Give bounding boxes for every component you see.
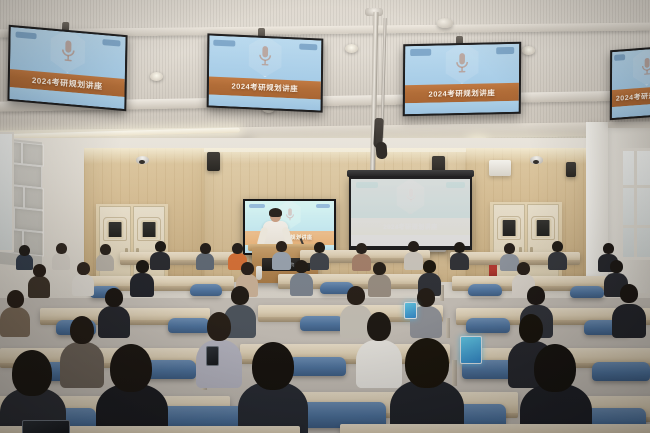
phone-device[interactable] — [22, 420, 70, 433]
ceiling-spotlight — [150, 72, 163, 81]
hanging-cable — [375, 142, 387, 160]
wall-speaker-icon — [566, 162, 576, 177]
microphone-in-hexagon-icon — [246, 35, 284, 78]
slide-content: 2024考研规划讲座 — [209, 35, 322, 110]
microphone-in-hexagon-icon — [443, 44, 481, 84]
slide-logo-right — [299, 43, 317, 50]
audience-member — [52, 244, 70, 268]
audience-member — [390, 338, 464, 433]
audience-member — [0, 290, 30, 332]
chair — [466, 318, 510, 333]
wall-speaker-icon — [207, 152, 220, 171]
slide-logo-right — [316, 204, 330, 209]
audience-member — [196, 244, 214, 268]
audience-member — [612, 284, 646, 334]
audience-member — [450, 243, 469, 268]
microphone-in-hexagon-icon — [631, 48, 650, 87]
audience-member — [96, 344, 168, 433]
audience-member — [238, 342, 308, 433]
projection-screen: 2024考研规划讲座 — [349, 176, 472, 250]
slide-content: 2024考研规划讲座 — [612, 48, 650, 118]
ceiling-display-4: 2024考研规划讲座 — [610, 46, 650, 121]
audience-member — [272, 242, 291, 268]
slide-logo-right — [446, 182, 465, 188]
slide-logo-left — [614, 54, 625, 61]
audience-member — [548, 242, 567, 268]
ceiling-spotlight — [522, 46, 535, 55]
ceiling-display-2: 2024考研规划讲座 — [207, 33, 324, 112]
slide-content: 2024考研规划讲座 — [405, 44, 519, 114]
slide-title: 2024考研规划讲座 — [231, 81, 298, 95]
slide-logo-right — [496, 47, 514, 53]
slide-logo-left — [356, 182, 379, 188]
chair — [468, 284, 502, 296]
dome-camera-icon — [530, 156, 543, 164]
audience-member — [28, 264, 50, 294]
lecture-hall-photo: 2024考研规划讲座 — [0, 0, 650, 433]
ceiling-display-1: 2024考研规划讲座 — [7, 25, 127, 111]
slide-title: 2024考研规划讲座 — [383, 222, 437, 231]
smoke-detector-icon — [437, 18, 453, 28]
slide-title: 2024考研规划讲座 — [429, 87, 496, 99]
audience-member — [520, 344, 592, 433]
door-window — [501, 218, 518, 238]
ceiling-display-3: 2024考研规划讲座 — [403, 42, 522, 116]
presenter-hair — [269, 208, 282, 217]
door-window — [141, 220, 158, 239]
slide-content: 2024考研规划讲座 — [9, 27, 125, 109]
door-window — [535, 218, 552, 238]
slide-logo-left — [214, 39, 235, 46]
dome-camera-icon — [136, 156, 149, 164]
ceiling-spotlight — [345, 44, 358, 53]
microphone-in-hexagon-icon — [395, 179, 427, 214]
tablet-device[interactable] — [404, 302, 417, 319]
slide-content: 2024考研规划讲座 — [351, 179, 470, 246]
door-window — [107, 220, 124, 239]
slide-title-band: 2024考研规划讲座 — [351, 218, 470, 235]
audience-member — [130, 260, 154, 294]
audience-member — [290, 260, 313, 293]
microphone-in-hexagon-icon — [47, 27, 88, 74]
chair — [300, 316, 344, 331]
window-right — [620, 148, 650, 260]
slide-title: 2024考研规划讲座 — [616, 89, 650, 104]
audience-member — [196, 312, 242, 382]
slide-logo-left — [249, 204, 266, 209]
audience-member — [96, 245, 114, 269]
slide-title: 2024考研规划讲座 — [32, 75, 103, 92]
chair — [190, 284, 222, 296]
wall-control-box — [489, 160, 511, 176]
chair — [570, 286, 604, 298]
slide-logo-left — [410, 49, 432, 56]
audience-member — [72, 262, 94, 292]
phone-device[interactable] — [206, 346, 219, 366]
water-bottle — [256, 266, 262, 280]
window-left — [0, 132, 14, 252]
desk — [340, 424, 650, 433]
audience-area — [0, 250, 650, 433]
chair — [592, 362, 650, 381]
